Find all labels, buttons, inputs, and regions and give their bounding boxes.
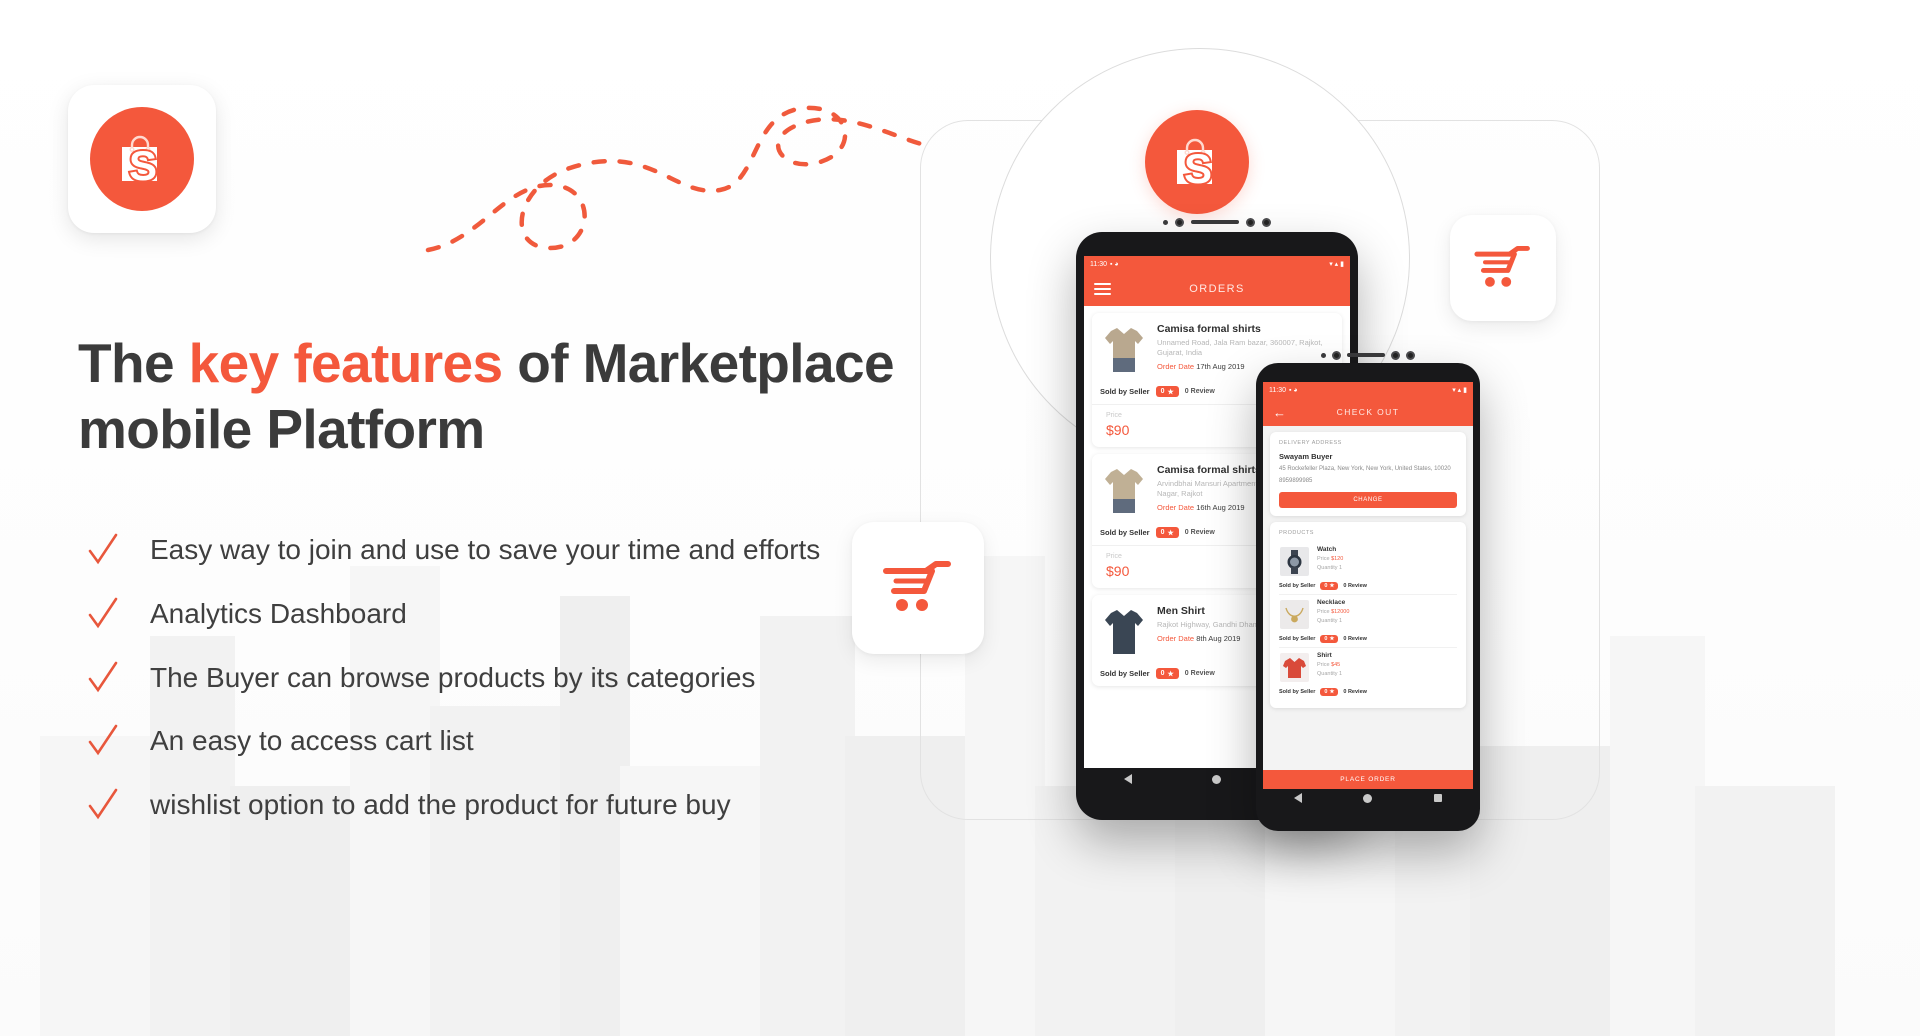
seller-row: Sold by Seller 0 ★ 0 Review — [1279, 630, 1457, 648]
order-date-value: 17th Aug 2019 — [1196, 362, 1244, 371]
sold-by-label: Sold by Seller — [1279, 636, 1315, 642]
rating-value: 0 — [1324, 689, 1327, 695]
list-item[interactable]: Watch Price $120 Quantity 1 — [1279, 542, 1457, 577]
marketing-banner: S The key features of Marketplace mobile… — [0, 0, 1920, 1036]
feature-text: Analytics Dashboard — [128, 594, 407, 634]
left-content-panel: S The key features of Marketplace mobile… — [0, 0, 1010, 1036]
check-icon — [78, 721, 128, 759]
check-icon — [78, 530, 128, 568]
quantity-value: 1 — [1339, 565, 1342, 571]
order-date-value: 8th Aug 2019 — [1196, 634, 1240, 643]
check-icon — [78, 658, 128, 696]
buyer-address: 45 Rockefeller Plaza, New York, New York… — [1279, 465, 1457, 474]
price-value: $45 — [1331, 662, 1340, 668]
phone-mockup-checkout: 11:30 ▪ ◕ ▾ ▴ ▮ ← CHECK OUT DELIVERY ADD… — [1256, 363, 1480, 831]
review-count: 0 Review — [1185, 529, 1215, 536]
android-navigation-bar — [1263, 789, 1473, 807]
rating-value: 0 — [1324, 636, 1327, 642]
status-time: 11:30 — [1269, 387, 1286, 394]
quantity-label: Quantity — [1317, 618, 1337, 624]
product-thumbnail — [1100, 603, 1148, 661]
shopping-bag-s-logo-icon: S — [1145, 110, 1249, 214]
price-label: Price — [1317, 609, 1330, 615]
star-icon: ★ — [1329, 689, 1334, 695]
product-thumbnail — [1100, 462, 1148, 520]
status-icons: ▪ ◕ — [1110, 261, 1119, 268]
app-logo-card: S — [68, 85, 216, 233]
svg-text:S: S — [129, 142, 157, 189]
back-nav-icon[interactable] — [1124, 774, 1132, 784]
app-bar: ← CHECK OUT — [1263, 398, 1473, 426]
sold-by-label: Sold by Seller — [1279, 689, 1315, 695]
check-icon — [78, 785, 128, 823]
list-item: An easy to access cart list — [78, 721, 998, 761]
status-badge: 0 ★ — [1320, 635, 1338, 643]
feature-text: An easy to access cart list — [128, 721, 474, 761]
headline-part2: of Marketplace — [503, 332, 894, 394]
price-value: $120 — [1331, 556, 1343, 562]
star-icon: ★ — [1168, 670, 1174, 678]
review-count: 0 Review — [1343, 636, 1367, 642]
list-item: wishlist option to add the product for f… — [78, 785, 998, 825]
product-thumbnail — [1279, 652, 1310, 683]
rating-value: 0 — [1161, 670, 1165, 677]
status-right-icons: ▾ ▴ ▮ — [1452, 386, 1467, 394]
status-badge: 0 ★ — [1156, 527, 1179, 538]
list-item: The Buyer can browse products by its cat… — [78, 658, 998, 698]
home-nav-icon[interactable] — [1212, 775, 1221, 784]
sold-by-label: Sold by Seller — [1100, 528, 1150, 537]
status-icons: ▪ ◕ — [1289, 387, 1298, 394]
sold-by-label: Sold by Seller — [1100, 669, 1150, 678]
phone-sensors — [1076, 212, 1358, 232]
star-icon: ★ — [1329, 636, 1334, 642]
list-item[interactable]: Necklace Price $12000 Quantity 1 — [1279, 595, 1457, 630]
order-date-value: 16th Aug 2019 — [1196, 503, 1244, 512]
status-badge: 0 ★ — [1320, 582, 1338, 590]
review-count: 0 Review — [1185, 670, 1215, 677]
quantity-value: 1 — [1339, 618, 1342, 624]
delivery-address-card: DELIVERY ADDRESS Swayam Buyer 45 Rockefe… — [1270, 432, 1466, 516]
app-bar-title: CHECK OUT — [1263, 407, 1473, 417]
headline-accent: key features — [189, 332, 503, 394]
order-date-label: Order Date — [1157, 634, 1194, 643]
feature-text: wishlist option to add the product for f… — [128, 785, 731, 825]
price-value: $90 — [1106, 563, 1217, 579]
back-nav-icon[interactable] — [1294, 793, 1302, 803]
product-name: Necklace — [1317, 599, 1457, 606]
section-label: PRODUCTS — [1279, 530, 1457, 536]
headline-part1: The — [78, 332, 189, 394]
product-thumbnail — [1100, 321, 1148, 379]
order-date-label: Order Date — [1157, 503, 1194, 512]
shopping-cart-icon — [1472, 241, 1534, 295]
order-title: Camisa formal shirts — [1157, 323, 1334, 335]
place-order-button[interactable]: PLACE ORDER — [1263, 770, 1473, 789]
quantity-label: Quantity — [1317, 671, 1337, 677]
price-label: Price — [1317, 662, 1330, 668]
rating-value: 0 — [1324, 583, 1327, 589]
check-icon — [78, 594, 128, 632]
products-card: PRODUCTS Watch — [1270, 522, 1466, 708]
feature-text: The Buyer can browse products by its cat… — [128, 658, 755, 698]
recents-nav-icon[interactable] — [1434, 794, 1442, 802]
product-thumbnail — [1279, 599, 1310, 630]
status-badge: 0 ★ — [1156, 386, 1179, 397]
cart-badge-card — [852, 522, 984, 654]
seller-row: Sold by Seller 0 ★ 0 Review — [1279, 683, 1457, 700]
quantity-label: Quantity — [1317, 565, 1337, 571]
product-thumbnail — [1279, 546, 1310, 577]
svg-text:S: S — [1184, 145, 1212, 192]
home-nav-icon[interactable] — [1363, 794, 1372, 803]
section-label: DELIVERY ADDRESS — [1279, 440, 1457, 446]
seller-row: Sold by Seller 0 ★ 0 Review — [1279, 577, 1457, 595]
star-icon: ★ — [1168, 388, 1174, 396]
review-count: 0 Review — [1343, 583, 1367, 589]
headline-line2: mobile Platform — [78, 398, 485, 460]
price-label: Price — [1106, 553, 1217, 560]
app-bar: ORDERS — [1084, 272, 1350, 306]
dashed-curve-decoration — [420, 90, 940, 270]
star-icon: ★ — [1329, 583, 1334, 589]
app-bar-title: ORDERS — [1084, 283, 1350, 295]
price-value: $90 — [1106, 422, 1217, 438]
price-value: $12000 — [1331, 609, 1349, 615]
shopping-bag-s-logo-icon: S — [90, 107, 194, 211]
sold-by-label: Sold by Seller — [1100, 387, 1150, 396]
quantity-value: 1 — [1339, 671, 1342, 677]
star-icon: ★ — [1168, 529, 1174, 537]
rating-value: 0 — [1161, 388, 1165, 395]
right-mockup-panel: S — [1010, 0, 1920, 1036]
review-count: 0 Review — [1185, 388, 1215, 395]
product-name: Watch — [1317, 546, 1457, 553]
rating-value: 0 — [1161, 529, 1165, 536]
phone-sensors — [1256, 347, 1480, 363]
checkout-screen: 11:30 ▪ ◕ ▾ ▴ ▮ ← CHECK OUT DELIVERY ADD… — [1263, 382, 1473, 807]
shopping-cart-icon — [880, 555, 956, 621]
buyer-phone: 8959899985 — [1279, 478, 1457, 484]
status-badge: 0 ★ — [1320, 688, 1338, 696]
buyer-name: Swayam Buyer — [1279, 452, 1457, 461]
cart-badge-card — [1450, 215, 1556, 321]
status-bar: 11:30 ▪ ◕ ▾ ▴ ▮ — [1263, 382, 1473, 398]
price-label: Price — [1317, 556, 1330, 562]
feature-text: Easy way to join and use to save your ti… — [128, 530, 820, 570]
status-time: 11:30 — [1090, 261, 1107, 268]
status-badge: 0 ★ — [1156, 668, 1179, 679]
price-label: Price — [1106, 412, 1217, 419]
order-date-label: Order Date — [1157, 362, 1194, 371]
status-right-icons: ▾ ▴ ▮ — [1329, 260, 1344, 268]
page-title: The key features of Marketplace mobile P… — [78, 330, 978, 462]
list-item[interactable]: Shirt Price $45 Quantity 1 — [1279, 648, 1457, 683]
product-name: Shirt — [1317, 652, 1457, 659]
sold-by-label: Sold by Seller — [1279, 583, 1315, 589]
change-address-button[interactable]: CHANGE — [1279, 492, 1457, 508]
status-bar: 11:30 ▪ ◕ ▾ ▴ ▮ — [1084, 256, 1350, 272]
review-count: 0 Review — [1343, 689, 1367, 695]
